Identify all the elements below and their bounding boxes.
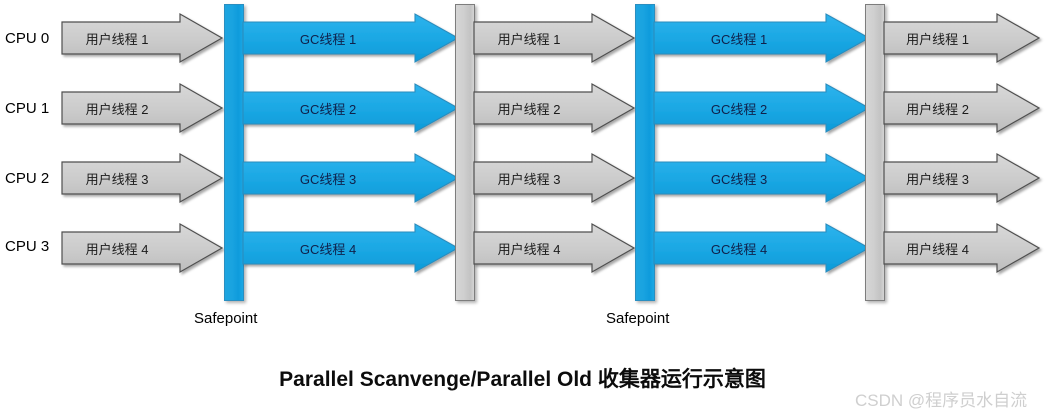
- cpu-label-2: CPU 2: [5, 170, 49, 187]
- safepoint-label-2: Safepoint: [606, 310, 669, 327]
- arrow-gc-phase-2-row-2: GC线程 3: [654, 154, 869, 202]
- resume-bar-1: [455, 4, 475, 301]
- arrow-user-phase-1-row-3: 用户线程 4: [62, 224, 222, 272]
- arrow-gc-phase-1-row-1: GC线程 2: [243, 84, 458, 132]
- cpu-label-0: CPU 0: [5, 30, 49, 47]
- safepoint-bar-1: [224, 4, 244, 301]
- safepoint-bar-2: [635, 4, 655, 301]
- cpu-label-1: CPU 1: [5, 100, 49, 117]
- arrow-user-phase-3-row-2: 用户线程 3: [884, 154, 1039, 202]
- arrow-user-phase-3-row-1: 用户线程 2: [884, 84, 1039, 132]
- arrow-gc-phase-2-row-3: GC线程 4: [654, 224, 869, 272]
- cpu-label-3: CPU 3: [5, 238, 49, 255]
- diagram-canvas: CPU 0 CPU 1 CPU 2 CPU 3 用户线程 1 用户线程 2: [0, 0, 1045, 418]
- arrow-user-phase-2-row-1: 用户线程 2: [474, 84, 634, 132]
- arrow-gc-phase-2-row-1: GC线程 2: [654, 84, 869, 132]
- arrow-user-phase-3-row-3: 用户线程 4: [884, 224, 1039, 272]
- arrow-gc-phase-1-row-3: GC线程 4: [243, 224, 458, 272]
- arrow-user-phase-2-row-2: 用户线程 3: [474, 154, 634, 202]
- arrow-gc-phase-1-row-0: GC线程 1: [243, 14, 458, 62]
- arrow-user-phase-2-row-3: 用户线程 4: [474, 224, 634, 272]
- safepoint-label-1: Safepoint: [194, 310, 257, 327]
- arrow-user-phase-1-row-0: 用户线程 1: [62, 14, 222, 62]
- arrow-gc-phase-2-row-0: GC线程 1: [654, 14, 869, 62]
- arrow-user-phase-1-row-2: 用户线程 3: [62, 154, 222, 202]
- arrow-user-phase-1-row-1: 用户线程 2: [62, 84, 222, 132]
- resume-bar-2: [865, 4, 885, 301]
- arrow-user-phase-2-row-0: 用户线程 1: [474, 14, 634, 62]
- watermark: CSDN @程序员水自流: [855, 386, 1027, 411]
- arrow-user-phase-3-row-0: 用户线程 1: [884, 14, 1039, 62]
- arrow-gc-phase-1-row-2: GC线程 3: [243, 154, 458, 202]
